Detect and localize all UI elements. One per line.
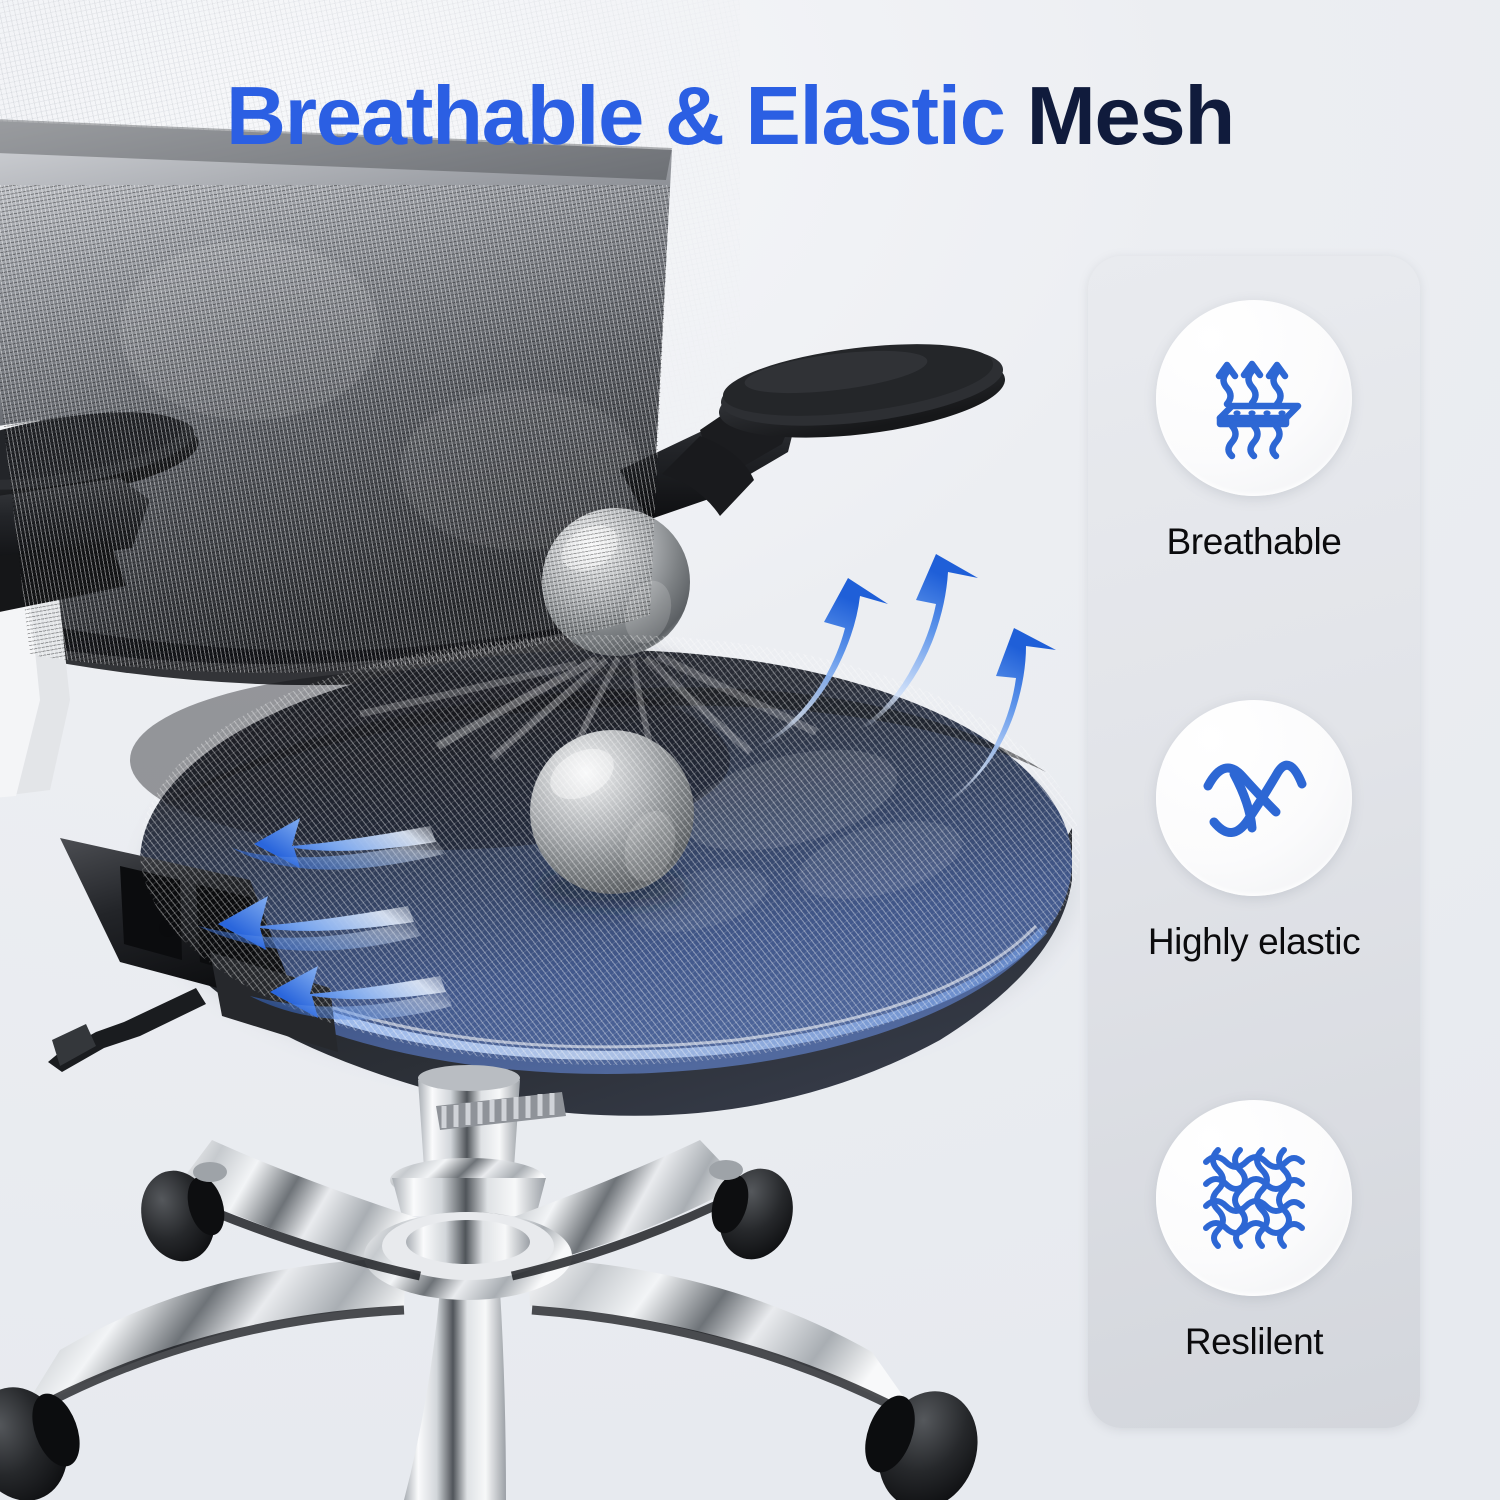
feature-panel: Breathable Highly elastic: [1088, 256, 1420, 1428]
woven-fabric-weave-icon: [1190, 1134, 1318, 1262]
breathable-mesh-airflow-icon: [1190, 334, 1318, 462]
product-feature-graphic: Breathable & Elastic Mesh: [0, 0, 1500, 1500]
caster-back-right: [705, 1160, 803, 1268]
feature-item-breathable[interactable]: Breathable: [1088, 300, 1420, 563]
chair-vector: [0, 0, 1080, 1500]
page-title: Breathable & Elastic Mesh: [0, 74, 1460, 157]
feature-icon-circle: [1156, 1100, 1352, 1296]
armrest-right: [620, 332, 1010, 520]
title-highlight: Breathable & Elastic: [226, 69, 1005, 162]
office-chair-image: [0, 0, 1080, 1500]
feature-label: Reslilent: [1088, 1322, 1420, 1363]
feature-item-highly-elastic[interactable]: Highly elastic: [1088, 700, 1420, 963]
feature-label: Breathable: [1088, 522, 1420, 563]
steel-ball-lower: [530, 730, 694, 908]
feature-icon-circle: [1156, 300, 1352, 496]
feature-item-reslilent[interactable]: Reslilent: [1088, 1100, 1420, 1363]
title-emphasis: Mesh: [1027, 69, 1234, 162]
feature-icon-circle: [1156, 700, 1352, 896]
feature-label: Highly elastic: [1088, 922, 1420, 963]
elastic-wave-icon: [1190, 734, 1318, 862]
caster-back-left: [131, 1162, 231, 1270]
